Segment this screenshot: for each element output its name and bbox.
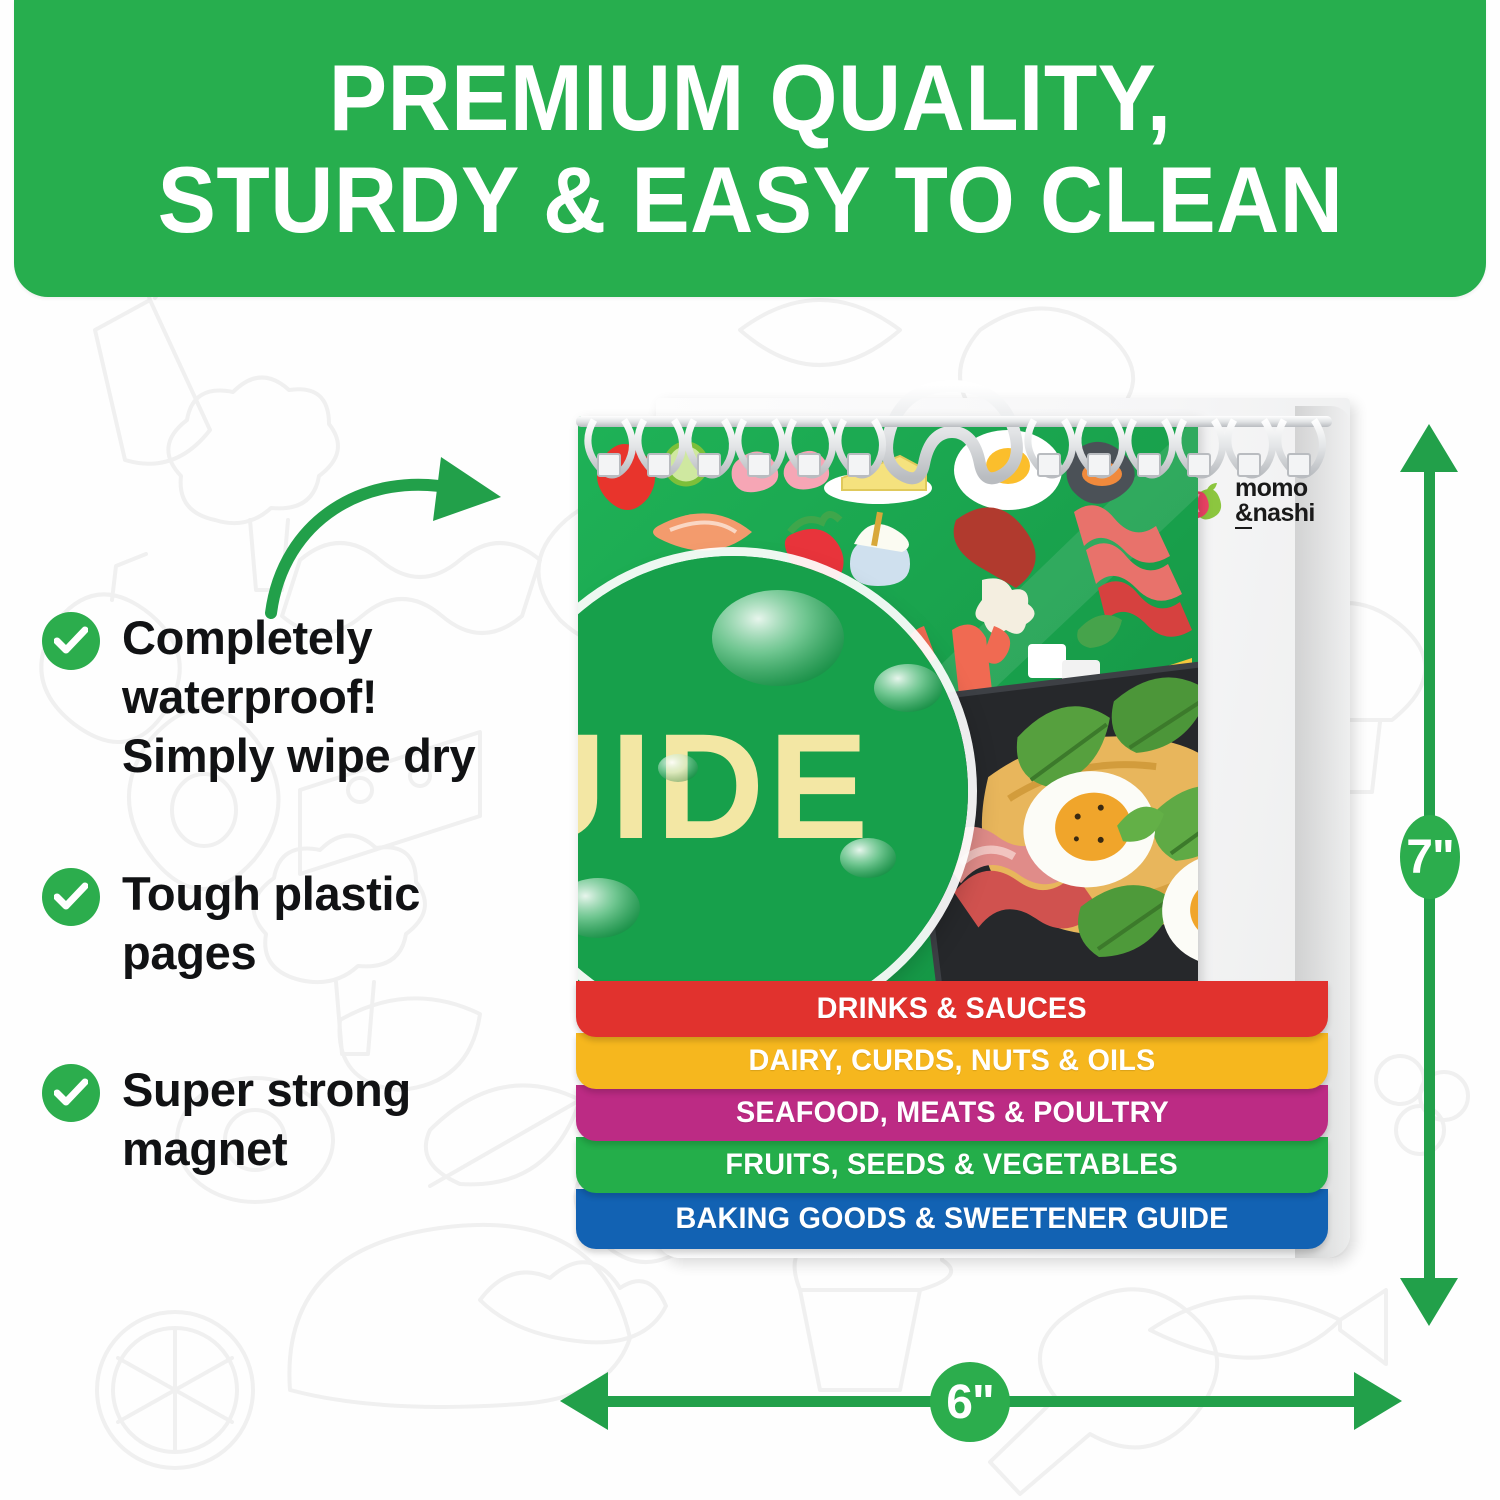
width-value-badge: 6" bbox=[930, 1362, 1010, 1442]
category-tab-seafood-meats-poultry[interactable]: SEAFOOD, MEATS & POULTRY bbox=[576, 1085, 1328, 1141]
header-title-line-1: PREMIUM QUALITY, bbox=[329, 47, 1172, 149]
check-circle-icon bbox=[42, 1064, 100, 1122]
header-banner: PREMIUM QUALITY, STURDY & EASY TO CLEAN bbox=[14, 0, 1486, 297]
spiral-binding bbox=[560, 372, 1350, 512]
category-tab-label: SEAFOOD, MEATS & POULTRY bbox=[736, 1096, 1169, 1130]
product-infographic: PREMIUM QUALITY, STURDY & EASY TO CLEAN … bbox=[0, 0, 1500, 1500]
feature-label: Completely waterproof! Simply wipe dry bbox=[122, 608, 512, 786]
feature-item: Super strong magnet bbox=[42, 1060, 512, 1178]
check-circle-icon bbox=[42, 868, 100, 926]
magnified-content: UIDE ood items and acro counts. bbox=[578, 556, 968, 1016]
category-tab-label: DRINKS & SAUCES bbox=[817, 992, 1087, 1026]
category-tab-baking-goods-sweetener-guide[interactable]: BAKING GOODS & SWEETENER GUIDE bbox=[576, 1189, 1328, 1249]
product-image: momo &nashi bbox=[560, 372, 1350, 1312]
width-dimension: 6" bbox=[556, 1360, 1406, 1444]
category-tab-dairy-curds-nuts-oils[interactable]: DAIRY, CURDS, NUTS & OILS bbox=[576, 1033, 1328, 1089]
height-dimension: 7" bbox=[1392, 420, 1468, 1330]
feature-item: Completely waterproof! Simply wipe dry bbox=[42, 608, 512, 786]
width-value: 6" bbox=[946, 1375, 993, 1430]
category-tab-label: BAKING GOODS & SWEETENER GUIDE bbox=[675, 1202, 1228, 1236]
category-tab-fruits-seeds-vegetables[interactable]: FRUITS, SEEDS & VEGETABLES bbox=[576, 1137, 1328, 1193]
header-title-line-2: STURDY & EASY TO CLEAN bbox=[157, 149, 1343, 251]
category-tab-label: DAIRY, CURDS, NUTS & OILS bbox=[749, 1044, 1156, 1078]
svg-text:UIDE: UIDE bbox=[578, 702, 872, 870]
category-tab-drinks-sauces[interactable]: DRINKS & SAUCES bbox=[576, 981, 1328, 1037]
category-tab-stack: DRINKS & SAUCES DAIRY, CURDS, NUTS & OIL… bbox=[576, 985, 1336, 1249]
height-value-badge: 7" bbox=[1400, 815, 1460, 899]
feature-item: Tough plastic pages bbox=[42, 864, 512, 982]
check-circle-icon bbox=[42, 612, 100, 670]
category-tab-label: FRUITS, SEEDS & VEGETABLES bbox=[726, 1148, 1179, 1182]
feature-label: Super strong magnet bbox=[122, 1060, 512, 1178]
height-value: 7" bbox=[1406, 830, 1453, 885]
feature-label: Tough plastic pages bbox=[122, 864, 512, 982]
feature-list: Completely waterproof! Simply wipe dry T… bbox=[42, 608, 512, 1179]
curved-arrow-icon bbox=[255, 445, 545, 625]
magnifier-lens: UIDE ood items and acro counts. bbox=[578, 556, 968, 1016]
